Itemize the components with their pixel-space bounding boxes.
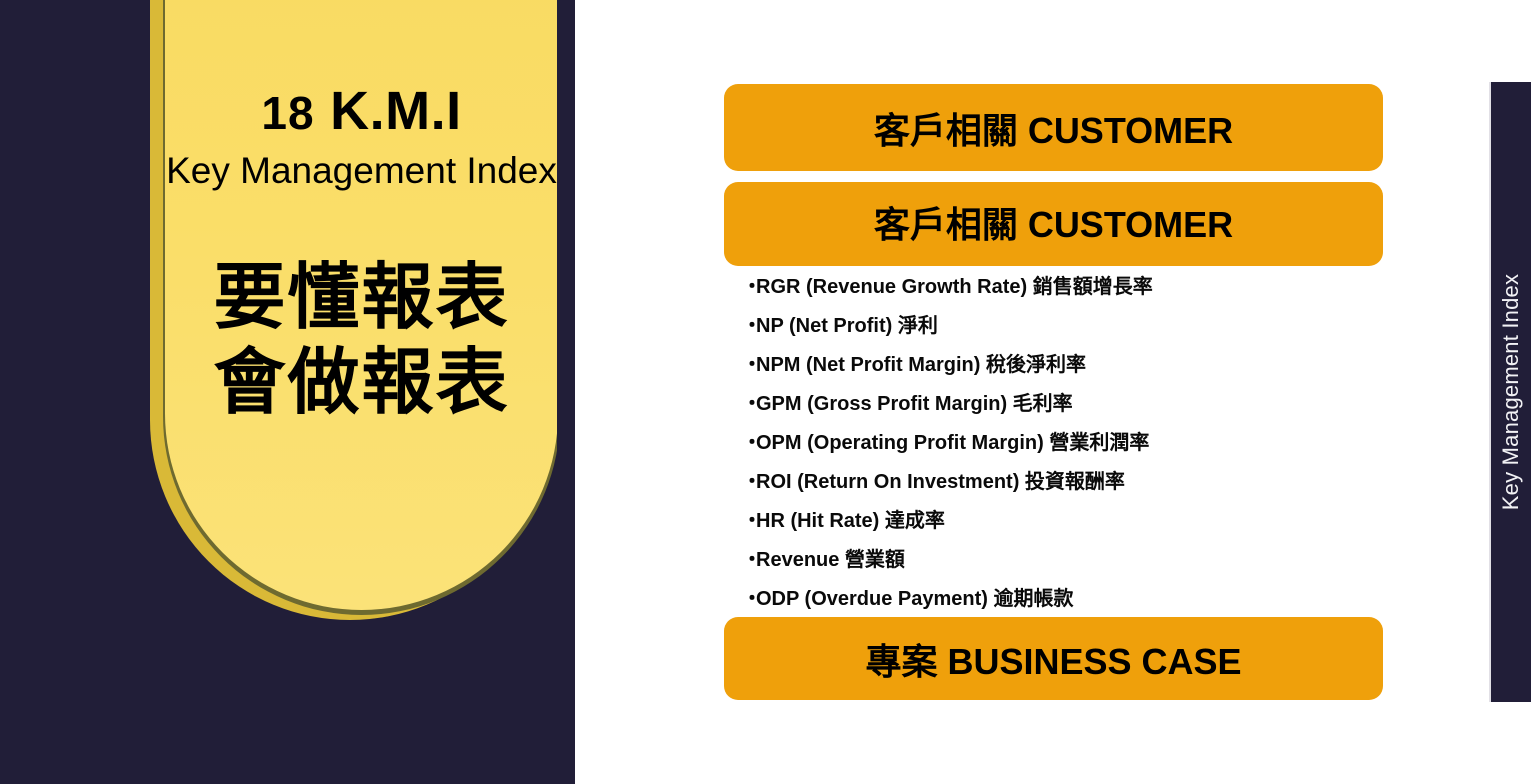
bullet-dot-icon: ・ [742,463,756,502]
section-header-customer-top-label: 客戶相關 CUSTOMER [874,102,1233,154]
side-tab[interactable]: Key Management Index [1491,82,1531,702]
list-item-label: ROI (Return On Investment) 投資報酬率 [756,471,1125,493]
metrics-list: ・RGR (Revenue Growth Rate) 銷售額增長率 ・NP (N… [742,268,1442,619]
list-item: ・ODP (Overdue Payment) 逾期帳款 [742,580,1442,619]
list-item-label: RGR (Revenue Growth Rate) 銷售額增長率 [756,276,1153,298]
page-subtitle: Key Management Index [165,151,558,192]
page-title: 18 K.M.I [165,84,558,138]
list-item: ・OPM (Operating Profit Margin) 營業利潤率 [742,424,1442,463]
bullet-dot-icon: ・ [742,580,756,619]
list-item-label: ODP (Overdue Payment) 逾期帳款 [756,588,1073,610]
slide-canvas: 18 K.M.I Key Management Index 要懂報表 會做報表 … [0,0,1531,784]
list-item-label: NPM (Net Profit Margin) 稅後淨利率 [756,354,1086,376]
section-header-customer-top[interactable]: 客戶相關 CUSTOMER [724,84,1383,171]
bullet-dot-icon: ・ [742,268,756,307]
side-tab-label: Key Management Index [1498,274,1524,510]
list-item-label: NP (Net Profit) 淨利 [756,315,938,337]
list-item: ・HR (Hit Rate) 達成率 [742,502,1442,541]
list-item: ・RGR (Revenue Growth Rate) 銷售額增長率 [742,268,1442,307]
bullet-dot-icon: ・ [742,307,756,346]
pill-shape: 18 K.M.I Key Management Index 要懂報表 會做報表 [165,0,558,610]
list-item-label: GPM (Gross Profit Margin) 毛利率 [756,393,1073,415]
page-tagline: 要懂報表 會做報表 [165,256,558,426]
list-item-label: Revenue 營業額 [756,549,905,571]
list-item-label: OPM (Operating Profit Margin) 營業利潤率 [756,432,1149,454]
list-item: ・Revenue 營業額 [742,541,1442,580]
panel-right-strip [557,0,575,784]
bullet-dot-icon: ・ [742,385,756,424]
section-header-business-case[interactable]: 專案 BUSINESS CASE [724,617,1383,700]
left-panel: 18 K.M.I Key Management Index 要懂報表 會做報表 [0,0,575,784]
bullet-dot-icon: ・ [742,346,756,385]
list-item: ・NP (Net Profit) 淨利 [742,307,1442,346]
bullet-dot-icon: ・ [742,424,756,463]
list-item: ・ROI (Return On Investment) 投資報酬率 [742,463,1442,502]
list-item-label: HR (Hit Rate) 達成率 [756,510,945,532]
bullet-dot-icon: ・ [742,541,756,580]
bullet-dot-icon: ・ [742,502,756,541]
page-title-main: K.M.I [315,81,462,141]
page-tagline-line-2: 會做報表 [165,341,558,426]
list-item: ・NPM (Net Profit Margin) 稅後淨利率 [742,346,1442,385]
section-header-customer[interactable]: 客戶相關 CUSTOMER [724,182,1383,266]
list-item: ・GPM (Gross Profit Margin) 毛利率 [742,385,1442,424]
page-tagline-line-1: 要懂報表 [165,256,558,341]
page-title-number: 18 [261,87,314,139]
section-header-customer-label: 客戶相關 CUSTOMER [874,196,1233,248]
section-header-business-case-label: 專案 BUSINESS CASE [865,633,1241,685]
